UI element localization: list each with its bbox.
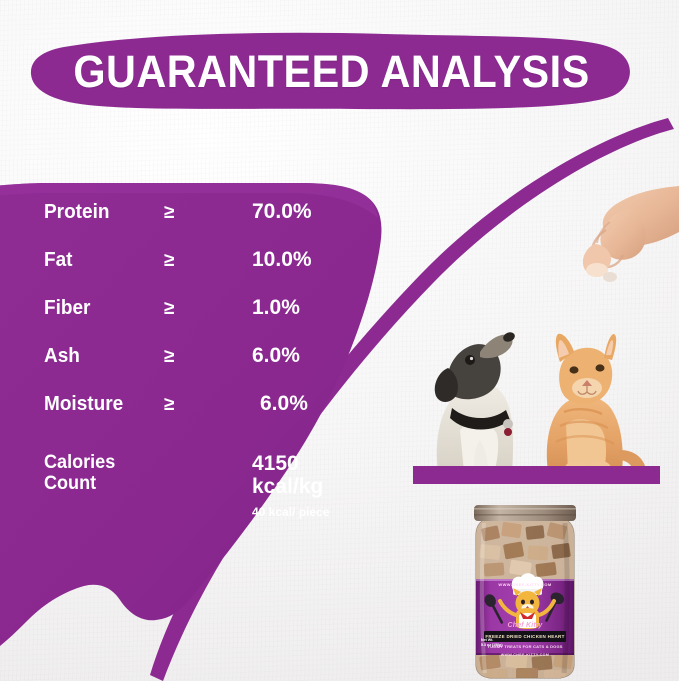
nutrient-value: 1.0% bbox=[252, 296, 344, 320]
table-row: Ash ≥ 6.0% bbox=[44, 344, 344, 392]
nutrient-value: 6.0% bbox=[252, 344, 344, 368]
header-banner: GUARANTEED ANALYSIS bbox=[26, 29, 637, 114]
table-row: Protein ≥ 70.0% bbox=[44, 200, 344, 248]
dog-figure bbox=[435, 331, 517, 472]
calories-label: Calories Count bbox=[44, 452, 242, 519]
nutrient-value: 10.0% bbox=[252, 248, 344, 272]
table-row: Fat ≥ 10.0% bbox=[44, 248, 344, 296]
table-row: Moisture ≥ 6.0% bbox=[44, 392, 344, 440]
page-title: GUARANTEED ANALYSIS bbox=[50, 29, 612, 114]
nutrient-name: Protein bbox=[44, 201, 158, 224]
nutrient-name: Ash bbox=[44, 345, 158, 368]
cat-figure bbox=[547, 334, 646, 472]
comparison-operator: ≥ bbox=[164, 394, 252, 416]
calories-per-piece-note: 40 kcal/ piece bbox=[252, 505, 344, 519]
comparison-operator: ≥ bbox=[164, 250, 252, 272]
nutrient-name: Moisture bbox=[44, 393, 158, 416]
comparison-operator: ≥ bbox=[164, 298, 252, 320]
nutrient-value: 70.0% bbox=[252, 200, 344, 224]
comparison-operator: ≥ bbox=[164, 202, 252, 224]
calories-values: 4150 kcal/kg 40 kcal/ piece bbox=[252, 452, 344, 519]
guaranteed-analysis-infographic: GUARANTEED ANALYSIS Protein ≥ bbox=[0, 0, 679, 681]
calories-label-line2: Count bbox=[44, 473, 242, 494]
pets-pedestal-bar bbox=[413, 466, 660, 484]
nutrient-name: Fiber bbox=[44, 297, 158, 320]
calories-value-number: 4150 bbox=[252, 452, 344, 475]
nutrient-value: 6.0% bbox=[252, 392, 344, 416]
calories-value-unit: kcal/kg bbox=[252, 475, 344, 498]
table-row: Fiber ≥ 1.0% bbox=[44, 296, 344, 344]
guaranteed-analysis-table: Protein ≥ 70.0% Fat ≥ 10.0% Fiber ≥ 1.0%… bbox=[44, 200, 344, 519]
nutrient-name: Fat bbox=[44, 249, 158, 272]
pets-photo bbox=[408, 300, 676, 472]
calories-label-line1: Calories bbox=[44, 452, 242, 473]
product-jar-image: WWW.CHEF-KITTY.COM Chef Kitty FREEZE DRI… bbox=[466, 505, 584, 681]
hand-holding-treat-image bbox=[566, 186, 679, 290]
comparison-operator: ≥ bbox=[164, 346, 252, 368]
calories-row: Calories Count 4150 kcal/kg 40 kcal/ pie… bbox=[44, 452, 344, 519]
